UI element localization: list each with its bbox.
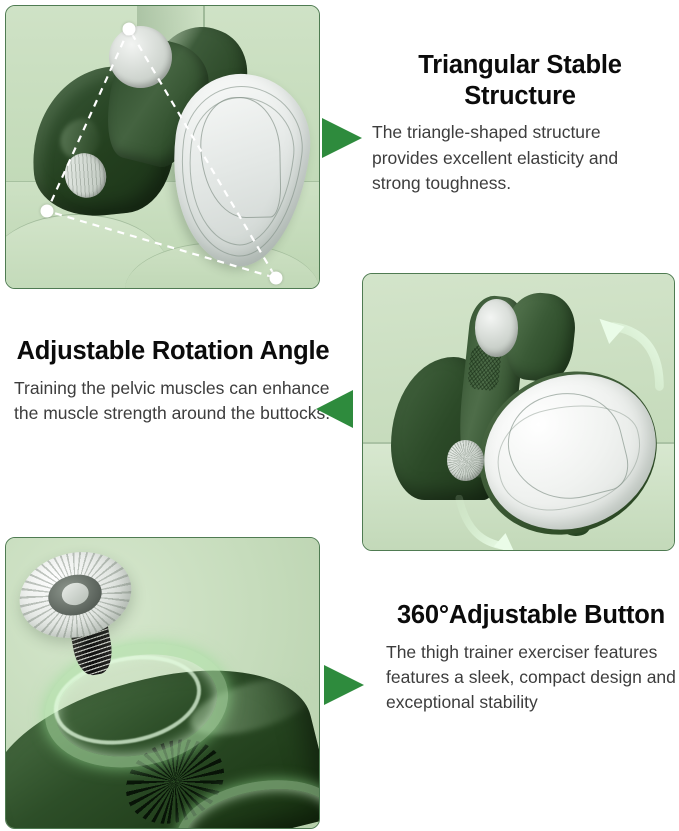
triangle-vertex-dot — [270, 272, 283, 285]
feature-description: Training the pelvic muscles can enhance … — [14, 376, 332, 427]
feature-description: The thigh trainer exerciser features fea… — [386, 640, 676, 716]
arrow-right-icon-360-adjustable-button — [324, 665, 364, 705]
feature-image-adjustable-rotation-angle — [362, 273, 675, 551]
rotation-arrow-up-icon — [590, 315, 671, 392]
feature-text-adjustable-rotation-angle: Adjustable Rotation Angle Training the p… — [14, 336, 332, 426]
arrow-left-icon-adjustable-rotation-angle — [316, 390, 353, 428]
hinge-cap — [475, 299, 519, 357]
feature-title: 360°Adjustable Button — [386, 600, 676, 631]
product-illustration-rotation — [363, 274, 674, 550]
triangle-vertex-dot — [41, 205, 54, 218]
adjustment-knob — [447, 440, 484, 481]
knob-ribs — [447, 440, 484, 481]
product-illustration-triangle — [6, 6, 319, 288]
product-illustration-button — [6, 538, 319, 828]
triangle-vertex-dot — [123, 23, 136, 36]
feature-title: Triangular Stable Structure — [372, 50, 668, 111]
rotation-arrow-down-icon — [450, 495, 525, 551]
dashed-triangle-overlay — [6, 6, 319, 288]
feature-text-triangular-stable-structure: Triangular Stable Structure The triangle… — [372, 50, 668, 196]
feature-text-360-adjustable-button: 360°Adjustable Button The thigh trainer … — [386, 600, 676, 716]
infographic-stage: Triangular Stable Structure The triangle… — [0, 0, 679, 831]
feature-title: Adjustable Rotation Angle — [14, 336, 332, 367]
arrow-right-icon-triangular-stable-structure — [322, 118, 362, 158]
feature-image-360-adjustable-button — [5, 537, 320, 829]
feature-description: The triangle-shaped structure provides e… — [372, 120, 668, 196]
feature-image-triangular-stable-structure — [5, 5, 320, 289]
